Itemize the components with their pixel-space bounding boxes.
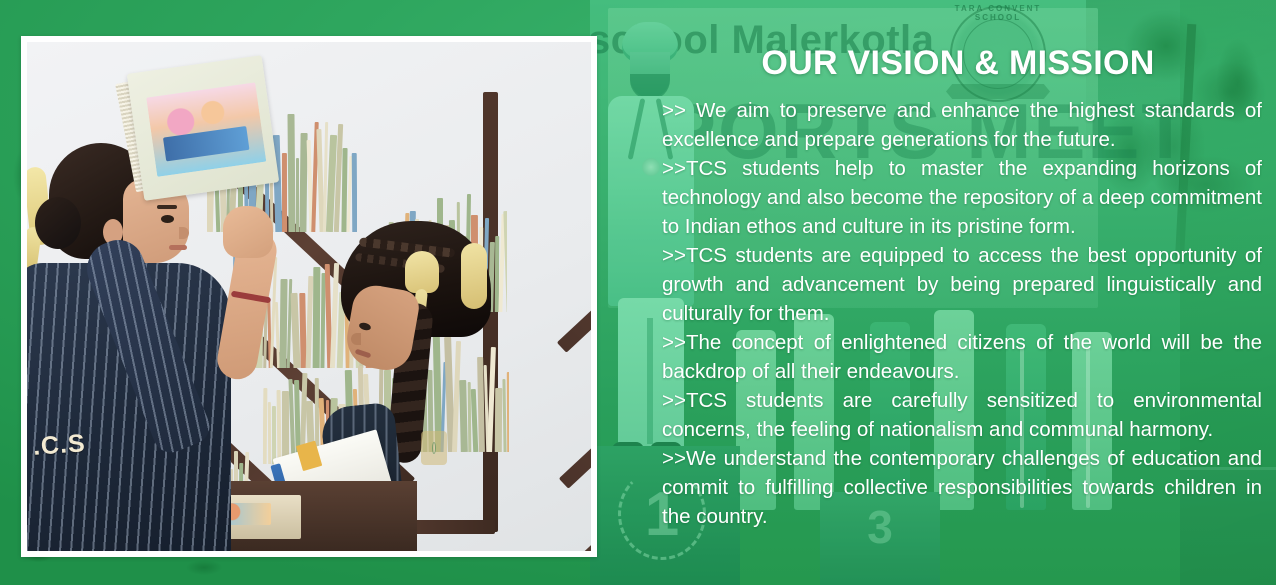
picture-book: [127, 55, 279, 201]
hair-bun: [35, 197, 81, 249]
vision-mission-text: >> We aim to preserve and enhance the hi…: [662, 96, 1262, 531]
lips: [169, 245, 187, 250]
vision-mission-panel: OUR VISION & MISSION >> We aim to preser…: [652, 0, 1264, 585]
uniform-crest: [421, 431, 447, 465]
eyebrow: [157, 205, 177, 209]
page-title: OUR VISION & MISSION: [652, 44, 1264, 83]
hair-ribbon-icon: [405, 251, 439, 293]
library-photo-frame: .C.S: [21, 36, 597, 557]
vision-paragraph: >> We aim to preserve and enhance the hi…: [662, 96, 1262, 154]
hand: [223, 206, 273, 258]
vision-paragraph: >>TCS students are equipped to access th…: [662, 241, 1262, 328]
hair-ribbon-icon: [461, 243, 487, 309]
uniform-monogram: .C.S: [32, 429, 87, 462]
book-cover-illustration: [146, 82, 266, 177]
vision-paragraph: >>TCS students help to master the expand…: [662, 154, 1262, 241]
nose: [351, 333, 361, 345]
vision-paragraph: >>TCS students are carefully sensitized …: [662, 386, 1262, 444]
eye: [161, 215, 174, 223]
library-photo: .C.S: [27, 42, 591, 551]
reaching-forearm: [205, 190, 315, 440]
vision-paragraph: >>The concept of enlightened citizens of…: [662, 328, 1262, 386]
vision-paragraph: >>We understand the contemporary challen…: [662, 444, 1262, 531]
